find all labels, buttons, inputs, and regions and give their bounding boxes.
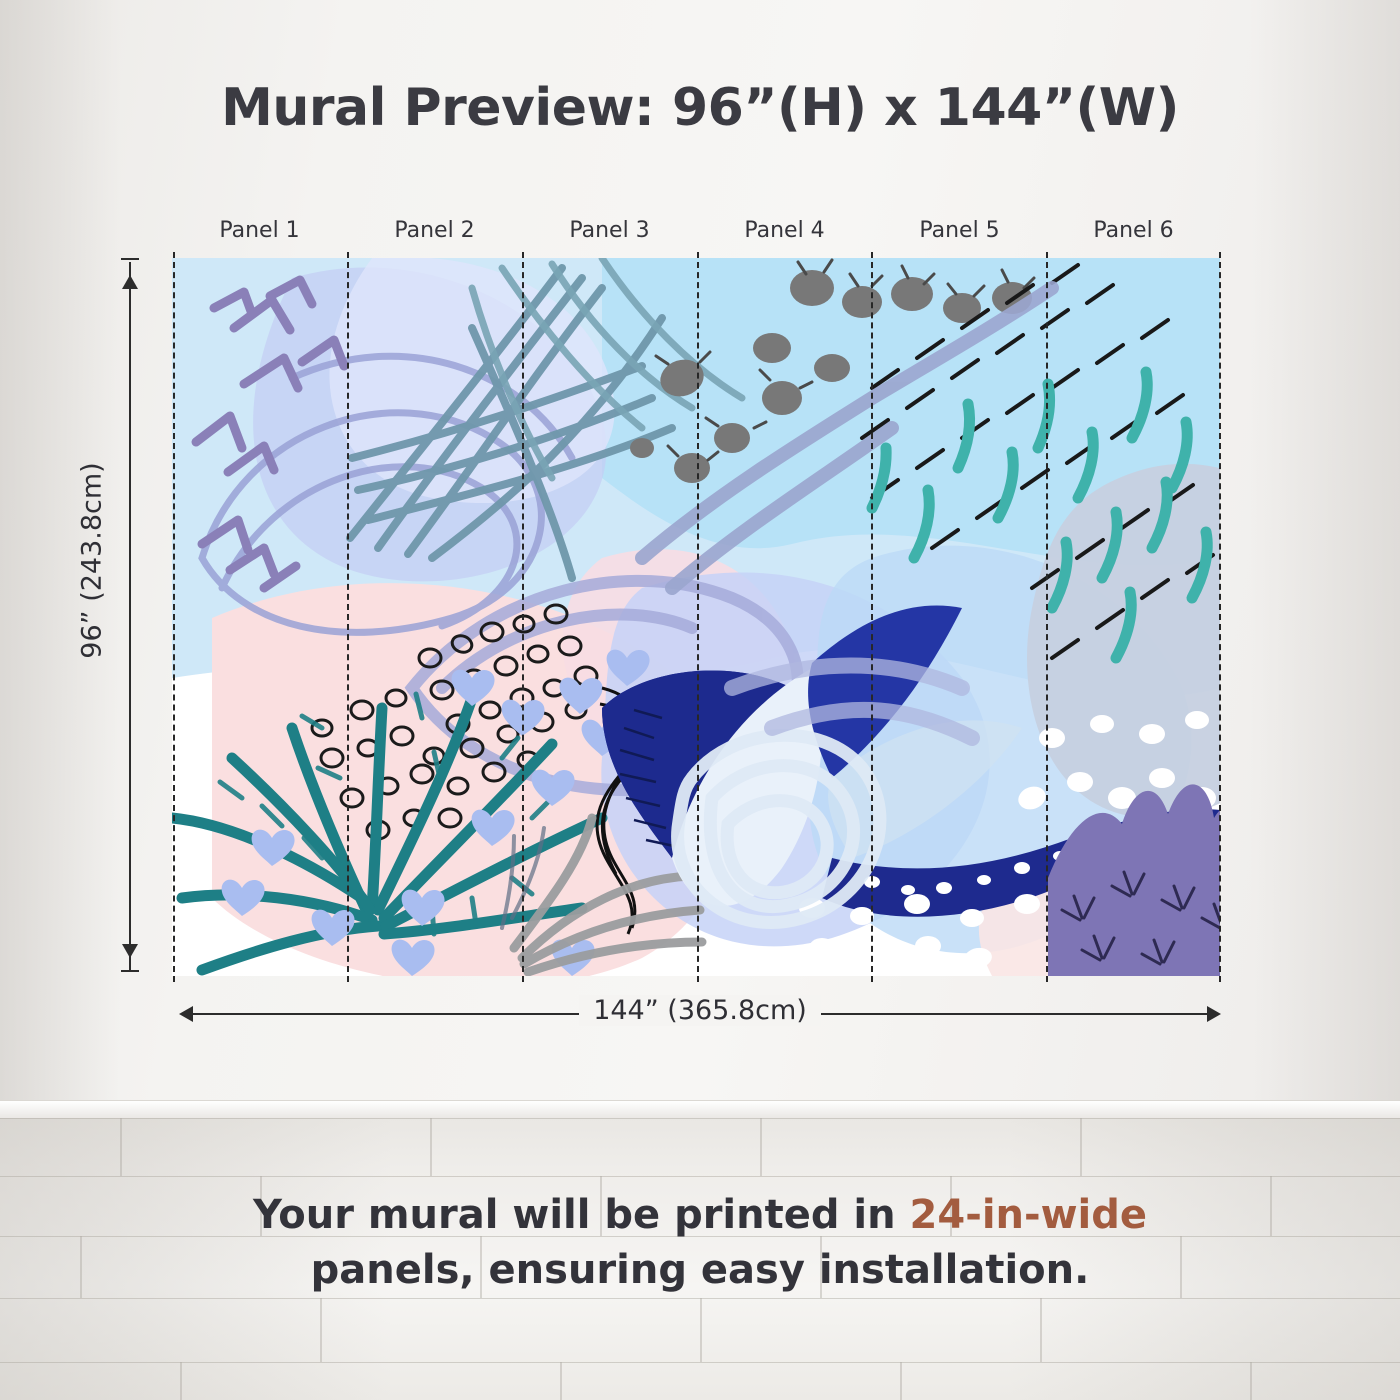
mural-artwork-wrapper xyxy=(172,258,1220,976)
page-title: Mural Preview: 96”(H) x 144”(W) xyxy=(0,78,1400,138)
floor-plank-seam xyxy=(1250,1362,1252,1400)
footer-note: Your mural will be printed in 24-in-wide… xyxy=(0,1188,1400,1298)
panel-label-5: Panel 5 xyxy=(872,218,1047,243)
width-dimension-text: 144” (365.8cm) xyxy=(579,995,821,1026)
panel-divider-1 xyxy=(347,252,349,982)
panel-divider-right-edge xyxy=(1219,252,1221,982)
panel-divider-left-edge xyxy=(173,252,175,982)
height-dimension-cap-bottom xyxy=(121,970,139,972)
floor-plank-seam xyxy=(560,1362,562,1400)
panel-label-2: Panel 2 xyxy=(347,218,522,243)
height-arrow-down-icon xyxy=(122,944,138,958)
panel-label-4: Panel 4 xyxy=(697,218,872,243)
panel-label-6: Panel 6 xyxy=(1046,218,1221,243)
floor-plank-seam xyxy=(1040,1298,1042,1362)
panel-label-1: Panel 1 xyxy=(172,218,347,243)
footer-line-1: Your mural will be printed in 24-in-wide xyxy=(0,1188,1400,1243)
floor-plank-seam xyxy=(1080,1118,1082,1176)
panel-divider-3 xyxy=(697,252,699,982)
footer-line-1-prefix: Your mural will be printed in xyxy=(253,1192,910,1238)
floor-plank-seam xyxy=(430,1118,432,1176)
panel-divider-4 xyxy=(871,252,873,982)
width-dimension-label: 144” (365.8cm) xyxy=(0,995,1400,1026)
panel-label-3: Panel 3 xyxy=(522,218,697,243)
height-dimension-cap-top xyxy=(121,258,139,260)
floor-plank-seam xyxy=(120,1118,122,1176)
floor-plank-line xyxy=(0,1118,1400,1119)
floor-plank-seam xyxy=(700,1298,702,1362)
mural-preview-page: Mural Preview: 96”(H) x 144”(W) xyxy=(0,0,1400,1400)
panel-divider-2 xyxy=(522,252,524,982)
wall-shadow-right xyxy=(1250,0,1400,1115)
footer-line-2: panels, ensuring easy installation. xyxy=(0,1243,1400,1298)
mural-artwork xyxy=(172,258,1220,976)
floor-plank-seam xyxy=(900,1362,902,1400)
height-dimension-line xyxy=(129,262,131,972)
floor-plank-seam xyxy=(320,1298,322,1362)
panel-divider-5 xyxy=(1046,252,1048,982)
floor-plank-seam xyxy=(180,1362,182,1400)
floor-plank-line xyxy=(0,1362,1400,1363)
height-dimension-label: 96” (243.8cm) xyxy=(77,431,108,691)
footer-accent-text: 24-in-wide xyxy=(910,1192,1147,1238)
floor-plank-seam xyxy=(760,1118,762,1176)
floor-plank-line xyxy=(0,1176,1400,1177)
height-arrow-up-icon xyxy=(122,275,138,289)
